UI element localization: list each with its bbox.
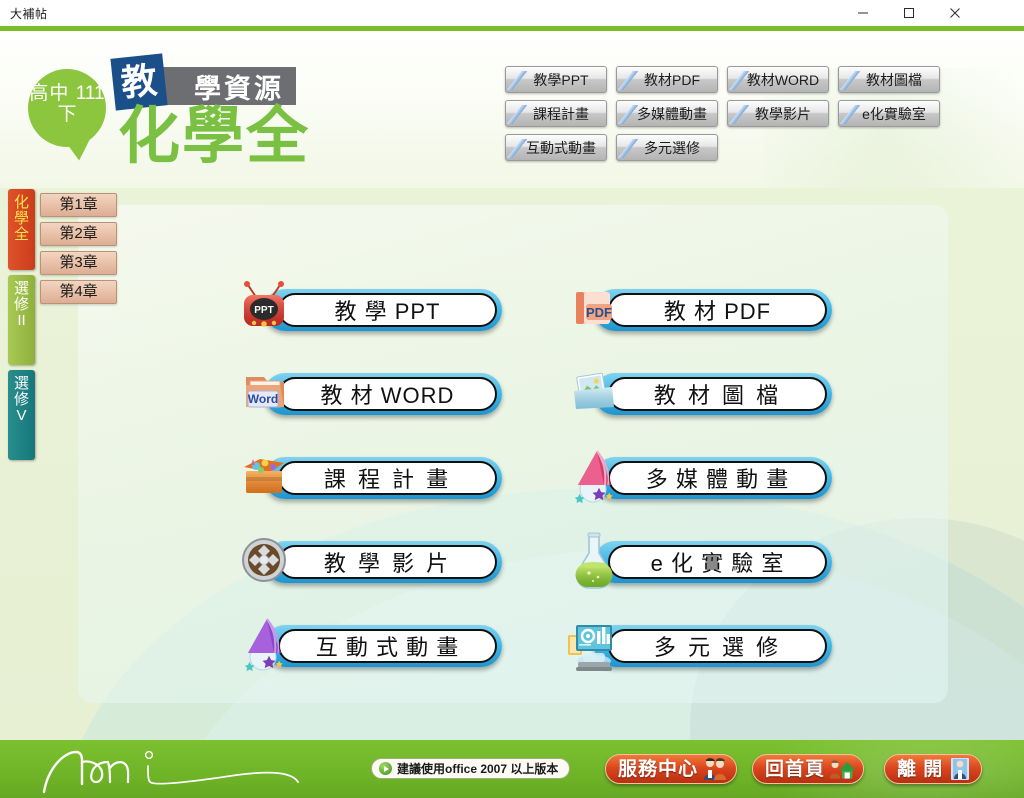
menu-button-interactive-animation[interactable]: 互 動 式 動 畫 (264, 625, 502, 667)
rail-char: II (8, 313, 35, 329)
close-button[interactable] (932, 0, 978, 26)
rail-char: V (8, 408, 35, 424)
office-version-note: 建議使用office 2007 以上版本 (371, 758, 570, 779)
chapter-list: 第1章 第2章 第3章 第4章 (40, 193, 117, 309)
chip-label: 教材PDF (644, 70, 700, 90)
pencil-slash-icon (840, 105, 860, 124)
page-header: 高中 111下 學資源 教 化學全 教學PPT 教材PDF 教材WORD (0, 26, 1024, 188)
chip-elab[interactable]: e化實驗室 (838, 100, 940, 127)
menu-button-material-word[interactable]: 教 材 WORD (264, 373, 502, 415)
chip-label: 課程計畫 (533, 104, 589, 124)
rail-char: 全 (8, 227, 35, 243)
chip-label: e化實驗室 (862, 104, 926, 124)
menu-button-material-pdf[interactable]: 教 材 PDF (594, 289, 832, 331)
nani-logo (30, 740, 330, 796)
pencil-slash-icon (507, 71, 527, 90)
menu-row: 教 材 PDF PDF (570, 283, 832, 367)
sidebar-rail: 化 學 全 選 修 II 選 修 V (8, 189, 35, 465)
menu-row: 課 程 計 畫 (240, 451, 502, 535)
chip-material-pdf[interactable]: 教材PDF (616, 66, 718, 93)
grade-badge: 高中 111下 (28, 69, 106, 147)
sidebar-item-elective-5[interactable]: 選 修 V (8, 370, 35, 460)
chip-label: 多媒體動畫 (637, 104, 707, 124)
chip-material-word[interactable]: 教材WORD (727, 66, 829, 93)
pencil-slash-icon (507, 139, 527, 158)
rail-char: 化 (8, 195, 35, 211)
pencil-slash-icon (618, 139, 638, 158)
application-window: 大補帖 高中 111下 學資源 教 化學全 教學PPT (0, 0, 1024, 798)
rail-char: 選 (8, 281, 35, 297)
chip-material-images[interactable]: 教材圖檔 (838, 66, 940, 93)
menu-button-label: 多 元 選 修 (608, 629, 827, 663)
chapter-button-1[interactable]: 第1章 (40, 193, 117, 217)
pencil-slash-icon (618, 105, 638, 124)
menu-button-course-plan[interactable]: 課 程 計 畫 (264, 457, 502, 499)
pencil-slash-icon (618, 71, 638, 90)
chip-label: 教材圖檔 (866, 70, 922, 90)
sidebar-item-elective-2[interactable]: 選 修 II (8, 275, 35, 365)
pencil-slash-icon (507, 105, 527, 124)
menu-button-material-images[interactable]: 教 材 圖 檔 (594, 373, 832, 415)
page-title: 化學全 (118, 105, 310, 167)
maximize-button[interactable] (886, 0, 932, 26)
chapter-button-4[interactable]: 第4章 (40, 280, 117, 304)
menu-button-teaching-ppt[interactable]: 教 學 PPT (264, 289, 502, 331)
rail-char: 修 (8, 392, 35, 408)
chip-teaching-video[interactable]: 教學影片 (727, 100, 829, 127)
window-title-bar: 大補帖 (0, 0, 1024, 27)
service-people-icon (702, 757, 728, 781)
menu-row: 多 元 選 修 (570, 619, 832, 703)
chip-course-plan[interactable]: 課程計畫 (505, 100, 607, 127)
service-center-label: 服務中心 (618, 760, 698, 779)
sidebar-item-chemistry-all[interactable]: 化 學 全 (8, 189, 35, 270)
chip-interactive-animation[interactable]: 互動式動畫 (505, 134, 607, 161)
pencil-slash-icon (729, 105, 749, 124)
chip-multimedia-animation[interactable]: 多媒體動畫 (616, 100, 718, 127)
chip-label: 教學PPT (533, 70, 588, 90)
menu-row: 教 材 WORD Word (240, 367, 502, 451)
menu-button-label: 互 動 式 動 畫 (278, 629, 497, 663)
menu-column-left: 教 學 PPT PPT (240, 283, 502, 703)
menu-button-label: 教 材 WORD (278, 377, 497, 411)
menu-button-teaching-video[interactable]: 教 學 影 片 (264, 541, 502, 583)
chip-row-1: 教學PPT 教材PDF 教材WORD 教材圖檔 (505, 66, 1005, 93)
main-content: 化 學 全 選 修 II 選 修 V 第1章 第2章 第3章 第4章 (0, 188, 1024, 740)
menu-button-label: 教 學 影 片 (278, 545, 497, 579)
page-footer: 建議使用office 2007 以上版本 服務中心 回首頁 (0, 740, 1024, 798)
rail-char: 修 (8, 297, 35, 313)
chapter-button-3[interactable]: 第3章 (40, 251, 117, 275)
menu-row: 教 學 影 片 (240, 535, 502, 619)
chip-label: 教材WORD (747, 70, 819, 90)
menu-button-label: 課 程 計 畫 (278, 461, 497, 495)
menu-button-elab[interactable]: e 化 實 驗 室 (594, 541, 832, 583)
pencil-slash-icon (840, 71, 860, 90)
menu-button-label: 教 材 圖 檔 (608, 377, 827, 411)
minimize-button[interactable] (840, 0, 886, 26)
chip-label: 多元選修 (644, 138, 700, 158)
service-center-button[interactable]: 服務中心 (605, 754, 737, 784)
menu-button-label: 教 材 PDF (608, 293, 827, 327)
menu-row: 教 材 圖 檔 (570, 367, 832, 451)
office-note-text: 建議使用office 2007 以上版本 (397, 760, 558, 777)
menu-button-label: 多 媒 體 動 畫 (608, 461, 827, 495)
chip-teaching-ppt[interactable]: 教學PPT (505, 66, 607, 93)
exit-label: 離 開 (897, 760, 943, 779)
menu-row: 教 學 PPT PPT (240, 283, 502, 367)
grade-badge-line1: 高中 (29, 83, 69, 104)
rail-char: 選 (8, 376, 35, 392)
exit-button[interactable]: 離 開 (884, 754, 982, 784)
window-title: 大補帖 (10, 5, 48, 22)
exit-door-icon (947, 757, 973, 781)
menu-button-elective[interactable]: 多 元 選 修 (594, 625, 832, 667)
menu-row: e 化 實 驗 室 (570, 535, 832, 619)
home-label: 回首頁 (765, 760, 825, 779)
chip-row-2: 課程計畫 多媒體動畫 教學影片 e化實驗室 (505, 100, 1005, 127)
chip-label: 互動式動畫 (526, 138, 596, 158)
menu-row: 多 媒 體 動 畫 (570, 451, 832, 535)
rail-char: 學 (8, 211, 35, 227)
home-icon (829, 757, 855, 781)
chip-elective[interactable]: 多元選修 (616, 134, 718, 161)
chip-label: 教學影片 (755, 104, 811, 124)
menu-button-label: e 化 實 驗 室 (608, 545, 827, 579)
menu-button-label: 教 學 PPT (278, 293, 497, 327)
home-button[interactable]: 回首頁 (752, 754, 864, 784)
menu-button-multimedia-animation[interactable]: 多 媒 體 動 畫 (594, 457, 832, 499)
header-tab-chips: 教學PPT 教材PDF 教材WORD 教材圖檔 課程計畫 (505, 66, 1005, 168)
play-icon (379, 762, 392, 775)
menu-column-right: 教 材 PDF PDF (570, 283, 832, 703)
chip-row-3: 互動式動畫 多元選修 (505, 134, 1005, 161)
chapter-button-2[interactable]: 第2章 (40, 222, 117, 246)
menu-row: 互 動 式 動 畫 (240, 619, 502, 703)
